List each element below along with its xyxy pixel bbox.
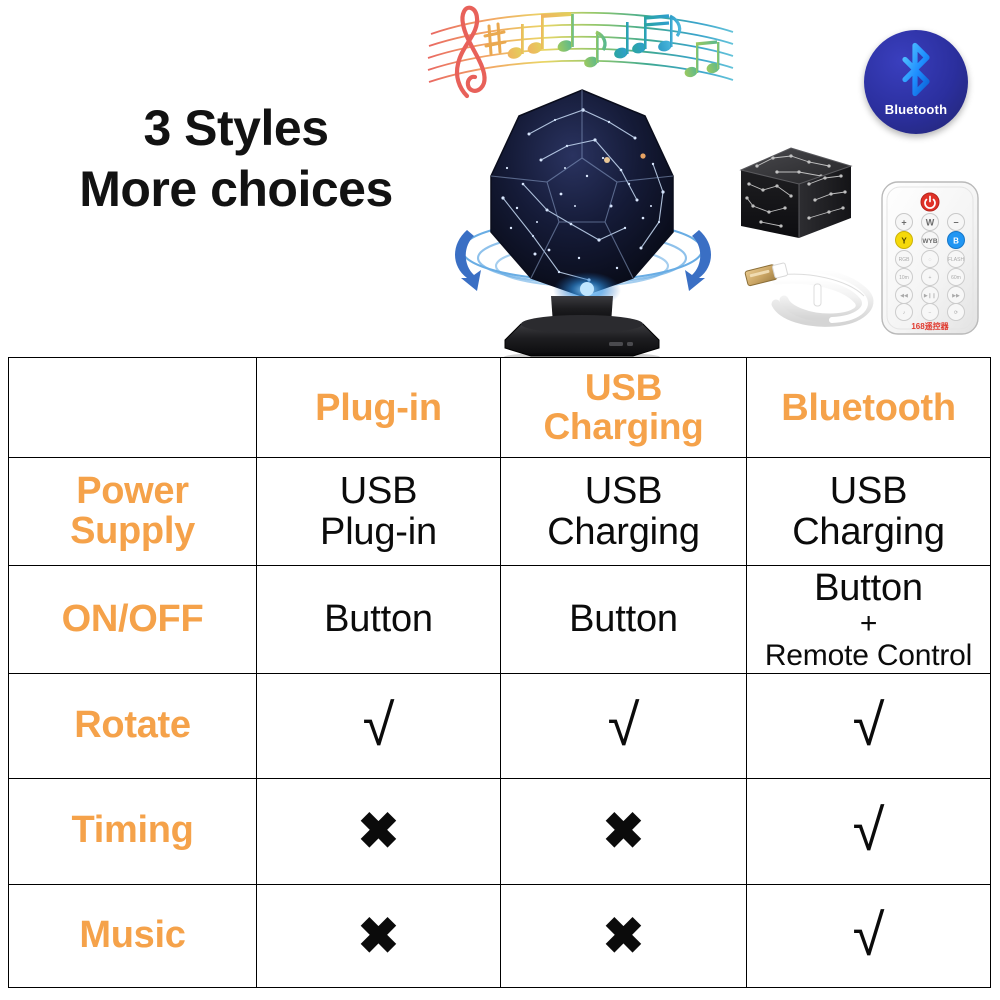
table-row: Music ✖ ✖ √ (9, 884, 991, 987)
bluetooth-badge: Bluetooth (864, 30, 968, 134)
timing-plugin-cross: ✖ (358, 806, 400, 856)
cell-music-bluetooth: √ (747, 884, 991, 987)
row-label-power-supply: Power Supply (9, 458, 257, 566)
cell-music-usb: ✖ (501, 884, 747, 987)
row-label-timing: Timing (9, 778, 257, 884)
svg-text:WYB: WYB (922, 238, 937, 245)
rotate-label: Rotate (11, 706, 254, 746)
column-header-bluetooth-label: Bluetooth (749, 389, 988, 427)
product-hero-banner: 3 Styles More choices (0, 0, 1000, 357)
svg-text:−: − (953, 218, 958, 228)
timing-label: Timing (11, 811, 254, 851)
row-label-rotate: Rotate (9, 674, 257, 778)
power-bt-line-1: USB (830, 470, 908, 512)
timing-usb-cross: ✖ (603, 806, 645, 856)
cell-rotate-plugin: √ (257, 674, 501, 778)
cell-timing-plugin: ✖ (257, 778, 501, 884)
star-projector-icon (437, 72, 727, 357)
row-label-music: Music (9, 884, 257, 987)
svg-text:60m: 60m (951, 275, 961, 281)
row-label-onoff: ON/OFF (9, 566, 257, 674)
svg-text:▶▶: ▶▶ (952, 293, 960, 299)
cell-onoff-plugin: Button (257, 566, 501, 674)
power-supply-line-2: Supply (70, 510, 195, 552)
cell-onoff-bluetooth: Button + Remote Control (747, 566, 991, 674)
rotate-bluetooth-check: √ (853, 697, 885, 755)
onoff-bt-plus: + (749, 609, 988, 639)
svg-text:W: W (926, 218, 935, 228)
onoff-plugin-value: Button (259, 599, 498, 640)
cell-music-plugin: ✖ (257, 884, 501, 987)
column-header-plugin-label: Plug-in (259, 389, 498, 427)
table-row: Power Supply USB Plug-in USB Charging US… (9, 458, 991, 566)
svg-text:B: B (953, 237, 959, 246)
table-row: Rotate √ √ √ (9, 674, 991, 778)
music-label: Music (11, 916, 254, 956)
column-header-bluetooth: Bluetooth (747, 358, 991, 458)
cell-power-supply-usb: USB Charging (501, 458, 747, 566)
power-plugin-line-1: USB (340, 470, 418, 512)
svg-text:10m: 10m (899, 275, 909, 281)
svg-text:−: − (929, 310, 932, 316)
headline-line-1: 3 Styles (36, 98, 436, 159)
column-header-usb-charging-label: USB Charging (503, 369, 744, 446)
onoff-bt-line-2: Remote Control (749, 639, 988, 673)
music-usb-cross: ✖ (603, 911, 645, 961)
rotate-plugin-check: √ (363, 697, 395, 755)
onoff-usb-value: Button (503, 599, 744, 640)
timing-bluetooth-check: √ (853, 802, 885, 860)
column-header-plugin: Plug-in (257, 358, 501, 458)
svg-text:+: + (929, 275, 932, 281)
usb-header-line-2: Charging (544, 406, 704, 447)
svg-text:◀◀: ◀◀ (900, 293, 908, 299)
bluetooth-label: Bluetooth (864, 102, 968, 117)
cell-rotate-usb: √ (501, 674, 747, 778)
column-header-usb-charging: USB Charging (501, 358, 747, 458)
svg-text:FLASH: FLASH (948, 257, 965, 263)
svg-text:Y: Y (901, 237, 907, 246)
cell-timing-bluetooth: √ (747, 778, 991, 884)
music-plugin-cross: ✖ (358, 911, 400, 961)
headline-line-2: More choices (36, 159, 436, 220)
svg-text:◌: ◌ (929, 257, 932, 263)
bluetooth-icon (893, 42, 939, 103)
table-header-row: Plug-in USB Charging Bluetooth (9, 358, 991, 458)
table-corner-cell (9, 358, 257, 458)
rotate-usb-check: √ (608, 697, 640, 755)
cell-rotate-bluetooth: √ (747, 674, 991, 778)
onoff-bt-line-1: Button (814, 567, 923, 609)
svg-text:+: + (901, 218, 906, 228)
table-row: Timing ✖ ✖ √ (9, 778, 991, 884)
power-usb-line-2: Charging (547, 511, 700, 553)
cell-power-supply-bluetooth: USB Charging (747, 458, 991, 566)
svg-text:RGB: RGB (899, 257, 911, 263)
usb-header-line-1: USB (585, 367, 662, 408)
svg-text:▶❙❙: ▶❙❙ (924, 293, 936, 299)
remote-model-label: 168遥控器 (911, 321, 949, 331)
table-row: ON/OFF Button Button Button + Remote Con… (9, 566, 991, 674)
power-bt-line-2: Charging (792, 511, 945, 553)
power-usb-line-1: USB (585, 470, 663, 512)
remote-control-icon: + W − Y WYB B RGB◌FLASH (874, 178, 986, 338)
cell-timing-usb: ✖ (501, 778, 747, 884)
power-supply-line-1: Power (76, 470, 189, 512)
usb-cable-icon (742, 246, 882, 338)
feature-comparison-table: Plug-in USB Charging Bluetooth Power Sup… (8, 357, 991, 988)
cell-power-supply-plugin: USB Plug-in (257, 458, 501, 566)
music-bluetooth-check: √ (853, 907, 885, 965)
gift-box-icon (733, 126, 859, 248)
onoff-label: ON/OFF (11, 600, 254, 640)
power-plugin-line-2: Plug-in (320, 511, 437, 553)
cell-onoff-usb: Button (501, 566, 747, 674)
page-title: 3 Styles More choices (36, 98, 436, 220)
